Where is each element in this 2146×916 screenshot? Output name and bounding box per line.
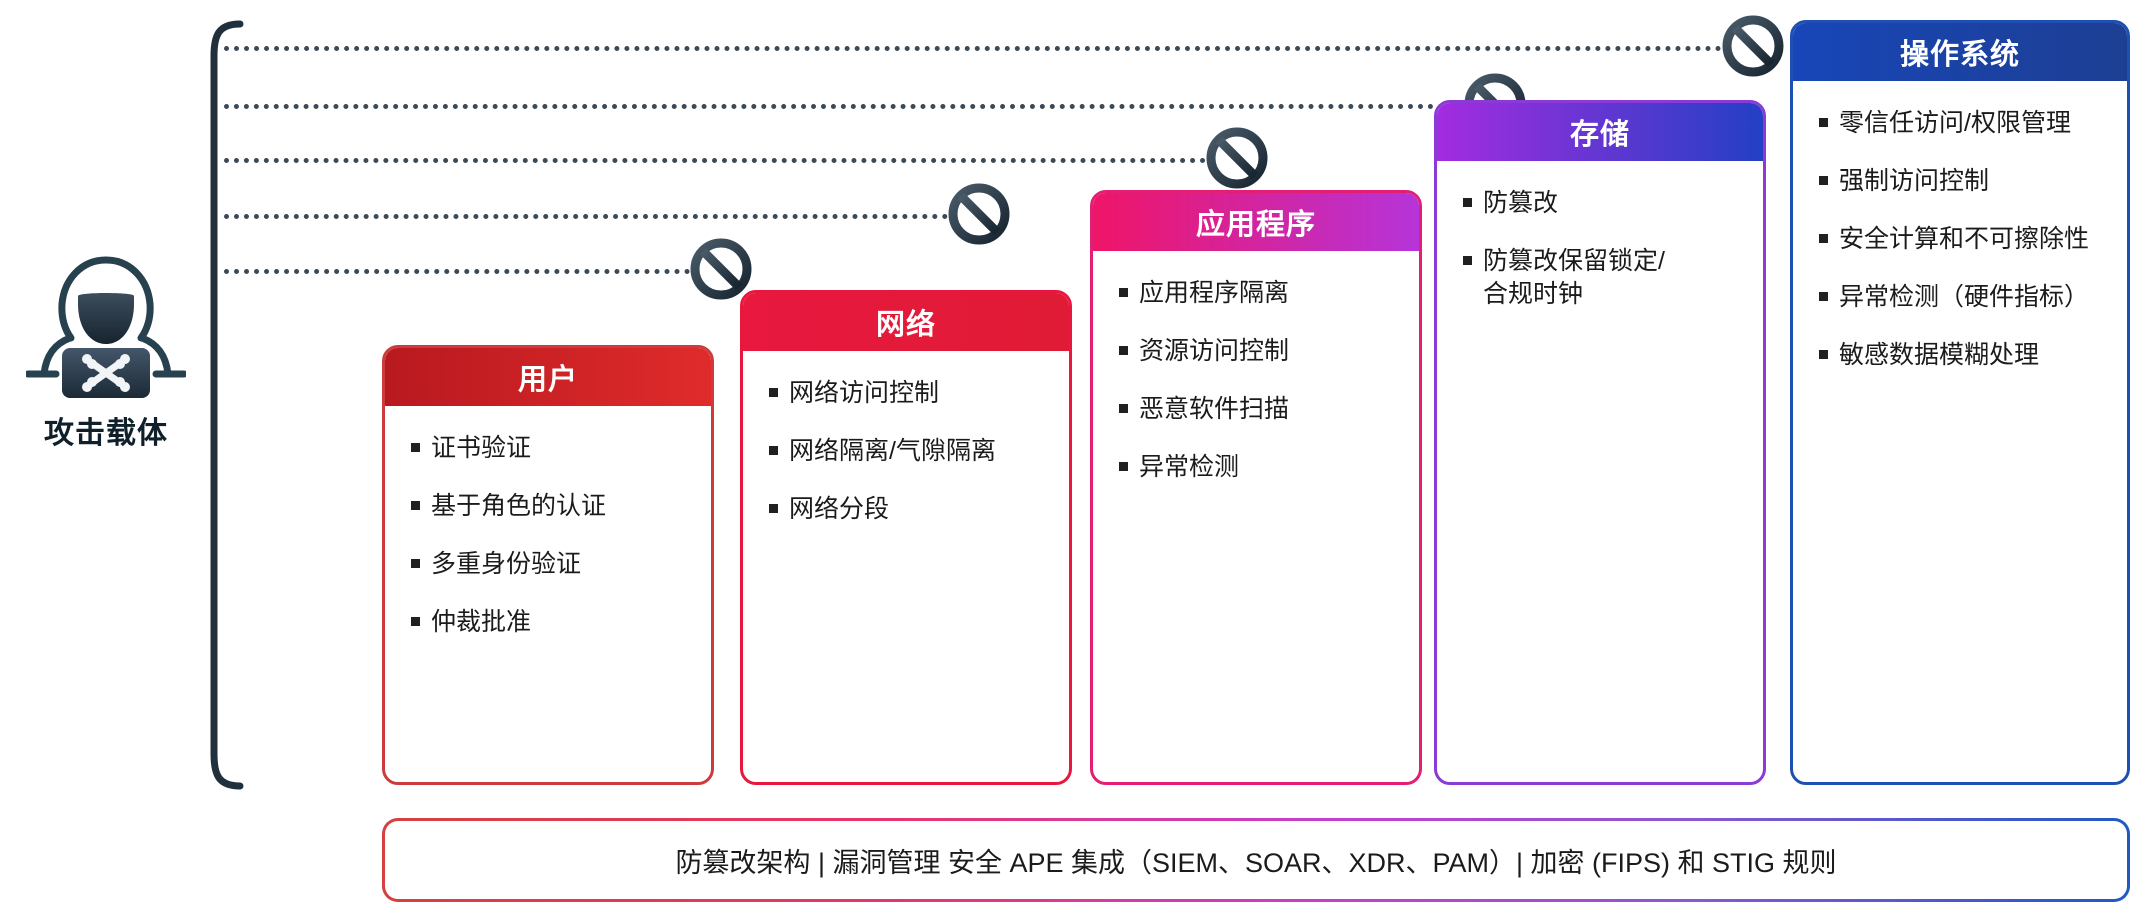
layer-title: 操作系统: [1900, 31, 2020, 73]
foundation-capabilities-text: 防篡改架构 | 漏洞管理 安全 APE 集成（SIEM、SOAR、XDR、PAM…: [675, 841, 1836, 880]
list-item: 防篡改: [1459, 187, 1745, 220]
layer-card-body: 网络访问控制 网络隔离/气隙隔离 网络分段: [743, 351, 1069, 782]
no-entry-icon: [1722, 15, 1784, 77]
layer-title: 存储: [1570, 111, 1630, 153]
list-item: 安全计算和不可擦除性: [1815, 223, 2109, 256]
list-item: 敏感数据模糊处理: [1815, 339, 2109, 372]
list-item: 应用程序隔离: [1115, 277, 1401, 310]
layer-card-body: 证书验证 基于角色的认证 多重身份验证 仲裁批准: [385, 406, 711, 782]
list-item: 恶意软件扫描: [1115, 393, 1401, 426]
list-item: 仲裁批准: [407, 606, 693, 639]
layer-title: 网络: [876, 301, 936, 343]
attack-line-os: [224, 46, 1722, 51]
layer-card-network[interactable]: 网络 网络访问控制 网络隔离/气隙隔离 网络分段: [740, 290, 1072, 785]
list-item: 防篡改保留锁定/ 合规时钟: [1459, 245, 1745, 311]
security-layers-diagram: 攻击载体 用户 证书验证 基于角色的认证: [0, 0, 2146, 916]
list-item: 异常检测: [1115, 451, 1401, 484]
list-item: 证书验证: [407, 432, 693, 465]
list-item: 资源访问控制: [1115, 335, 1401, 368]
layer-card-header: 用户: [385, 348, 711, 406]
list-item: 零信任访问/权限管理: [1815, 107, 2109, 140]
no-entry-icon: [948, 183, 1010, 245]
layer-item-list: 防篡改 防篡改保留锁定/ 合规时钟: [1459, 187, 1745, 311]
foundation-capabilities-bar: 防篡改架构 | 漏洞管理 安全 APE 集成（SIEM、SOAR、XDR、PAM…: [382, 818, 2130, 902]
attack-line-user: [224, 269, 690, 274]
hacker-icon: [26, 252, 186, 402]
list-item: 异常检测（硬件指标）: [1815, 281, 2109, 314]
layer-card-body: 零信任访问/权限管理 强制访问控制 安全计算和不可擦除性 异常检测（硬件指标） …: [1793, 81, 2127, 782]
layer-title: 用户: [518, 356, 578, 398]
layer-card-header: 网络: [743, 293, 1069, 351]
layer-card-storage[interactable]: 存储 防篡改 防篡改保留锁定/ 合规时钟: [1434, 100, 1766, 785]
layer-item-list: 零信任访问/权限管理 强制访问控制 安全计算和不可擦除性 异常检测（硬件指标） …: [1815, 107, 2109, 372]
list-item: 网络分段: [765, 493, 1051, 526]
attack-vector-label: 攻击载体: [8, 408, 204, 452]
layer-card-header: 操作系统: [1793, 23, 2127, 81]
layer-item-list: 证书验证 基于角色的认证 多重身份验证 仲裁批准: [407, 432, 693, 639]
list-item: 网络访问控制: [765, 377, 1051, 410]
no-entry-icon: [1206, 127, 1268, 189]
list-item: 强制访问控制: [1815, 165, 2109, 198]
attack-line-application: [224, 158, 1206, 163]
layer-item-list: 网络访问控制 网络隔离/气隙隔离 网络分段: [765, 377, 1051, 526]
attack-line-network: [224, 214, 948, 219]
layer-card-header: 应用程序: [1093, 193, 1419, 251]
layer-card-header: 存储: [1437, 103, 1763, 161]
layer-card-operating-system[interactable]: 操作系统 零信任访问/权限管理 强制访问控制 安全计算和不可擦除性 异常检测（硬…: [1790, 20, 2130, 785]
list-item: 网络隔离/气隙隔离: [765, 435, 1051, 468]
layer-card-user[interactable]: 用户 证书验证 基于角色的认证 多重身份验证 仲裁批准: [382, 345, 714, 785]
layer-card-application[interactable]: 应用程序 应用程序隔离 资源访问控制 恶意软件扫描 异常检测: [1090, 190, 1422, 785]
no-entry-icon: [690, 238, 752, 300]
layer-card-body: 防篡改 防篡改保留锁定/ 合规时钟: [1437, 161, 1763, 782]
left-brace-icon: [196, 20, 256, 790]
attack-vector-group: 攻击载体: [8, 252, 204, 452]
layer-title: 应用程序: [1196, 201, 1316, 243]
list-item: 多重身份验证: [407, 548, 693, 581]
layer-item-list: 应用程序隔离 资源访问控制 恶意软件扫描 异常检测: [1115, 277, 1401, 484]
layer-card-body: 应用程序隔离 资源访问控制 恶意软件扫描 异常检测: [1093, 251, 1419, 782]
attack-line-storage: [224, 104, 1464, 109]
list-item: 基于角色的认证: [407, 490, 693, 523]
